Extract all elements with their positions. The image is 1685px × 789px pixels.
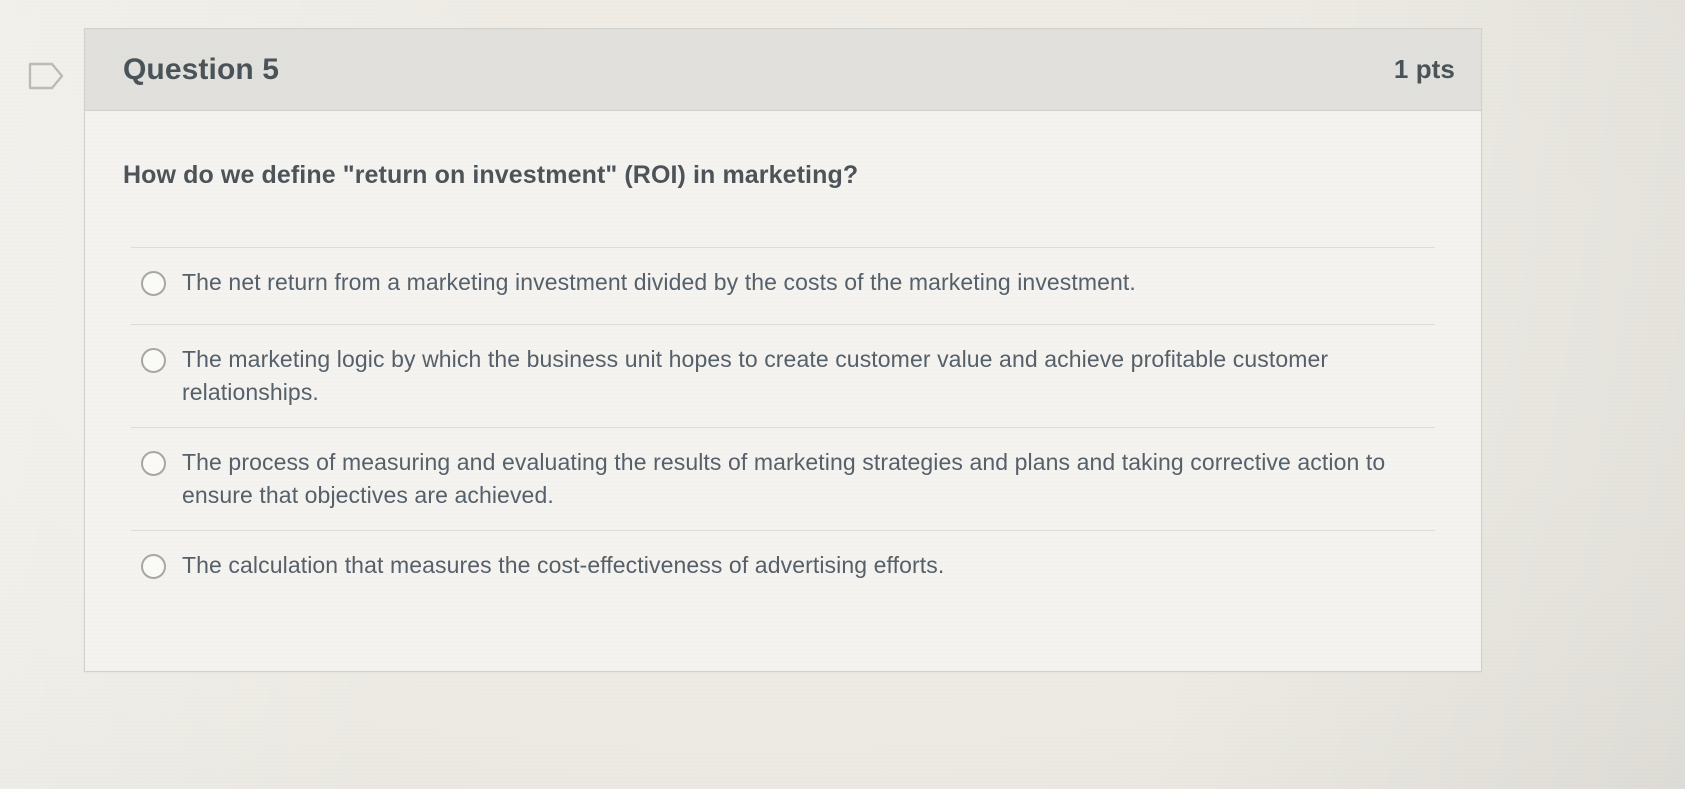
radio-unselected-icon[interactable] <box>141 451 166 476</box>
answer-option-4[interactable]: The calculation that measures the cost-e… <box>131 531 1435 607</box>
answer-option-label: The process of measuring and evaluating … <box>182 446 1412 512</box>
radio-unselected-icon[interactable] <box>141 348 166 373</box>
question-prompt: How do we define "return on investment" … <box>123 159 1443 193</box>
bookmark-flag-icon[interactable] <box>26 56 66 96</box>
answer-option-label: The net return from a marketing investme… <box>182 266 1136 299</box>
answer-option-label: The marketing logic by which the busines… <box>182 343 1412 409</box>
radio-unselected-icon[interactable] <box>141 271 166 296</box>
question-points: 1 pts <box>1394 54 1455 85</box>
answer-option-3[interactable]: The process of measuring and evaluating … <box>131 428 1435 531</box>
radio-unselected-icon[interactable] <box>141 554 166 579</box>
question-title: Question 5 <box>123 53 279 87</box>
answer-option-2[interactable]: The marketing logic by which the busines… <box>131 325 1435 428</box>
question-header: Question 5 1 pts <box>85 29 1481 111</box>
answer-options-list: The net return from a marketing investme… <box>131 247 1435 607</box>
answer-option-1[interactable]: The net return from a marketing investme… <box>131 248 1435 325</box>
question-card: Question 5 1 pts How do we define "retur… <box>84 28 1482 672</box>
answer-option-label: The calculation that measures the cost-e… <box>182 549 944 582</box>
question-body: How do we define "return on investment" … <box>85 111 1481 607</box>
